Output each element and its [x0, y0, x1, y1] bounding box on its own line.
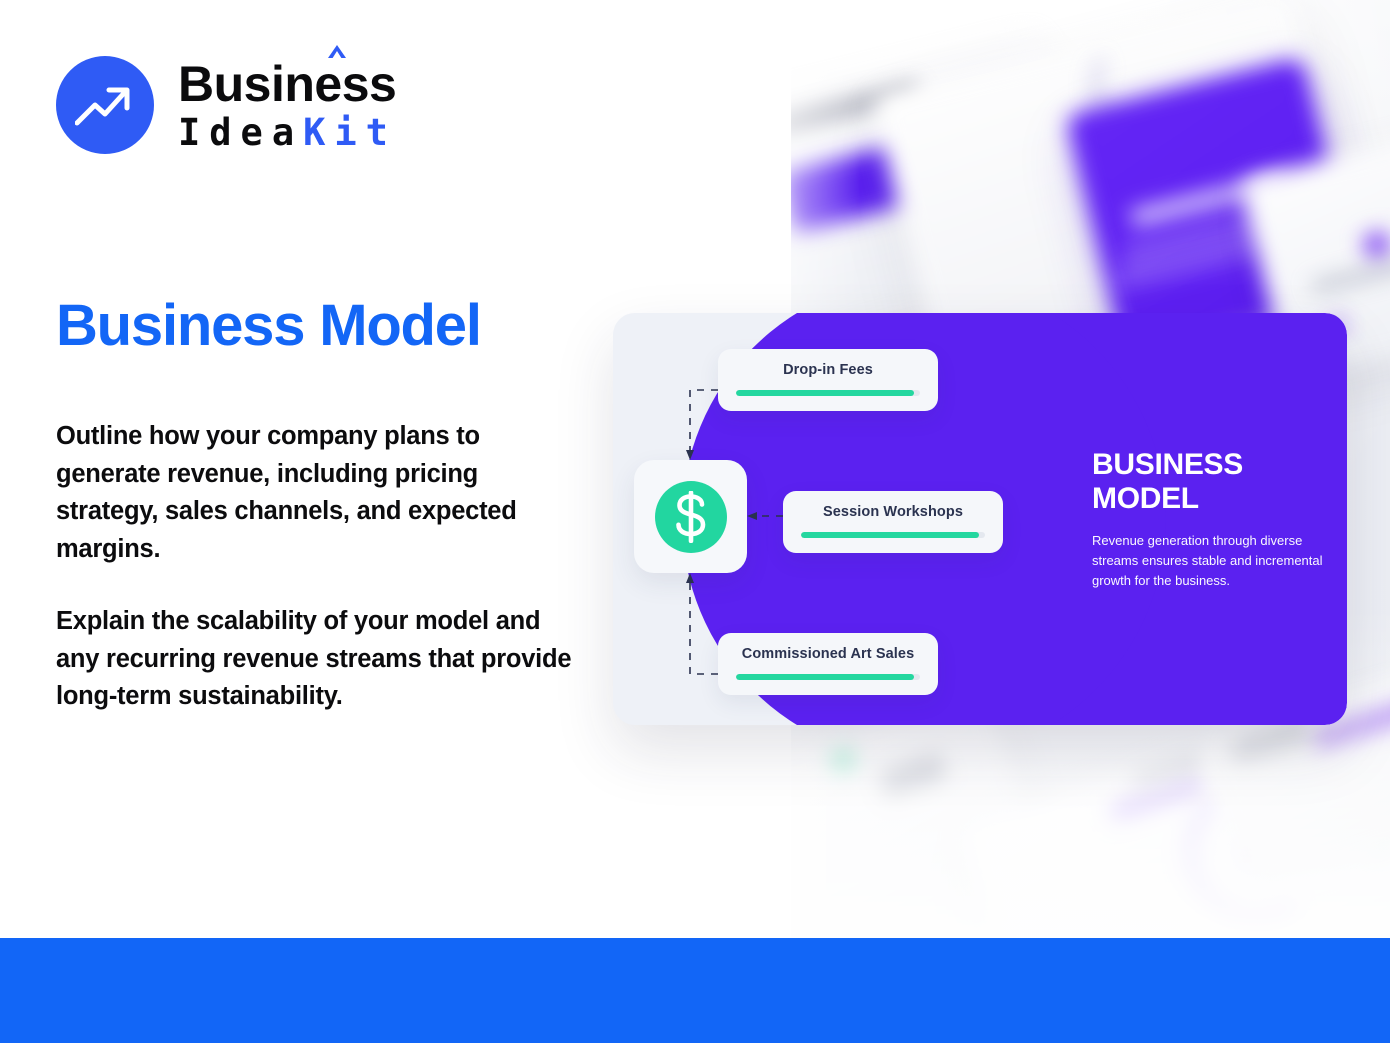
node-progress-fill — [801, 532, 979, 538]
revenue-node[interactable]: Drop-in Fees — [718, 349, 938, 411]
paragraph-1: Outline how your company plans to genera… — [56, 418, 584, 569]
purple-panel-description: Revenue generation through diverse strea… — [1092, 531, 1342, 591]
node-label: Commissioned Art Sales — [742, 646, 915, 662]
brand-name-top-text: Business — [178, 56, 396, 112]
revenue-hub — [634, 460, 747, 573]
node-progress-track — [736, 390, 920, 396]
revenue-streams-diagram: Drop-in Fees Session Workshops Commissio… — [613, 313, 1133, 725]
brand-name-bottom-dark: Idea — [178, 111, 303, 154]
trending-up-arrow-icon — [56, 56, 154, 154]
purple-panel-copy: BUSINESS MODEL Revenue generation throug… — [1092, 448, 1342, 592]
node-label: Drop-in Fees — [783, 362, 873, 378]
brand-wordmark: Business IdeaKit — [178, 59, 397, 151]
node-progress-fill — [736, 674, 914, 680]
page-title: Business Model — [56, 296, 481, 357]
paragraph-2: Explain the scalability of your model an… — [56, 603, 584, 716]
brand-name-bottom: IdeaKit — [178, 114, 397, 151]
slide-canvas: Business IdeaKit Business Model Outline … — [0, 0, 1390, 1043]
dollar-sign-icon — [655, 481, 727, 553]
node-progress-track — [736, 674, 920, 680]
brand-name-top: Business — [178, 59, 396, 109]
purple-panel-title: BUSINESS MODEL — [1092, 448, 1342, 515]
node-progress-track — [801, 532, 985, 538]
caret-accent-icon — [328, 45, 346, 58]
brand-logo: Business IdeaKit — [56, 56, 397, 154]
revenue-node[interactable]: Session Workshops — [783, 491, 1003, 553]
body-copy: Outline how your company plans to genera… — [56, 418, 584, 716]
brand-name-bottom-accent: Kit — [303, 111, 397, 154]
revenue-node[interactable]: Commissioned Art Sales — [718, 633, 938, 695]
node-progress-fill — [736, 390, 914, 396]
node-label: Session Workshops — [823, 504, 963, 520]
bottom-accent-bar — [0, 938, 1390, 1043]
